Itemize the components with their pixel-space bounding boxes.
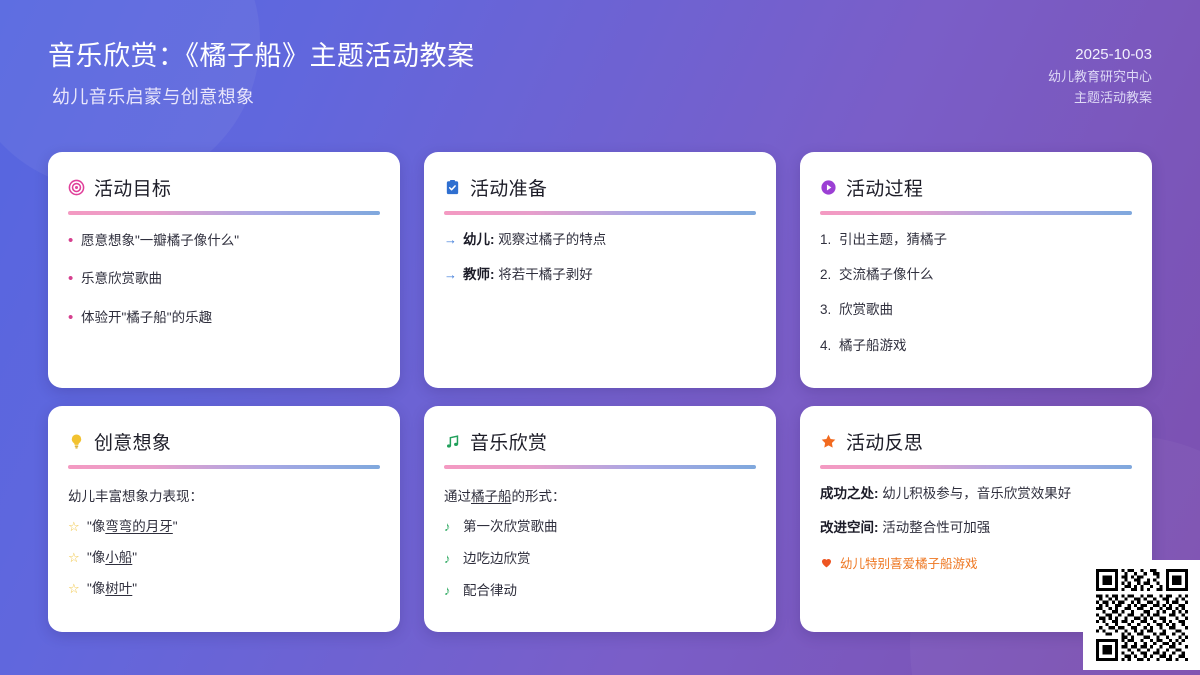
quote-open: "像 [87,550,105,565]
highlight-text: 幼儿特别喜爱橘子船游戏 [840,553,978,572]
list-item-text: 橘子船游戏 [839,337,907,355]
card-header: 活动目标 [68,174,380,201]
list-item: ♪ 第一次欣赏歌曲 [444,518,756,536]
list-item-label: 教师: [463,267,495,282]
list-item-label: 幼儿: [463,232,495,247]
qr-code [1096,569,1188,661]
card-divider [68,465,380,469]
lead-prefix: 通过 [444,489,471,504]
card-body: 通过橘子船的形式： ♪ 第一次欣赏歌曲 ♪ 边吃边欣赏 ♪ 配合律动 [444,485,756,601]
header-date: 2025-10-03 [1075,43,1152,66]
card-music-appreciation: 音乐欣赏 通过橘子船的形式： ♪ 第一次欣赏歌曲 ♪ 边吃边欣赏 ♪ 配合律动 [424,406,776,632]
quote-close: " [132,581,137,596]
list-item: 2. 交流橘子像什么 [820,266,1132,284]
lead-suffix: 的形式： [512,489,566,504]
star-icon [820,433,837,450]
qr-code-container [1083,560,1200,670]
card-title: 活动过程 [846,174,923,201]
list-item: ♪ 配合律动 [444,582,756,600]
music-note-bullet-icon: ♪ [444,582,463,600]
reflection-label: 成功之处: [820,486,879,501]
reflection-label: 改进空间: [820,520,879,535]
card-creative-imagination: 创意想象 幼儿丰富想象力表现： ☆ "像弯弯的月牙" ☆ "像小船" ☆ "像树… [48,406,400,632]
list-item: • 体验开"橘子船"的乐趣 [68,308,380,328]
music-note-icon [444,433,461,450]
card-header: 活动准备 [444,174,756,201]
card-divider [444,465,756,469]
reflection-success: 成功之处: 幼儿积极参与，音乐欣赏效果好 [820,485,1132,503]
card-lead-text: 通过橘子船的形式： [444,485,756,505]
header-meta-block: 2025-10-03 幼儿教育研究中心 主题活动教案 [1048,40,1152,108]
quote-open: "像 [87,519,105,534]
star-bullet-icon: ☆ [68,580,87,598]
page-header: 音乐欣赏：《橘子船》主题活动教案 幼儿音乐启蒙与创意想象 2025-10-03 … [0,0,1200,140]
list-item-text: 配合律动 [463,582,517,600]
card-activity-process: 活动过程 1. 引出主题，猜橘子 2. 交流橘子像什么 3. 欣赏歌曲 4. 橘… [800,152,1152,388]
card-title: 活动准备 [470,174,547,201]
card-lead-text: 幼儿丰富想象力表现： [68,485,380,505]
card-header: 创意想象 [68,428,380,455]
list-item-text: 欣赏歌曲 [839,301,893,319]
list-item: ☆ "像弯弯的月牙" [68,518,380,536]
star-bullet-icon: ☆ [68,518,87,536]
card-grid: 活动目标 • 愿意想象"一瓣橘子像什么" • 乐意欣赏歌曲 • 体验开"橘子船"… [48,152,1152,632]
list-item: → 幼儿: 观察过橘子的特点 [444,231,756,249]
card-divider [820,211,1132,215]
star-bullet-icon: ☆ [68,549,87,567]
card-body: → 幼儿: 观察过橘子的特点 → 教师: 将若干橘子剥好 [444,231,756,284]
card-body: 1. 引出主题，猜橘子 2. 交流橘子像什么 3. 欣赏歌曲 4. 橘子船游戏 [820,231,1132,355]
list-item: • 乐意欣赏歌曲 [68,269,380,289]
play-circle-icon [820,179,837,196]
card-activity-goals: 活动目标 • 愿意想象"一瓣橘子像什么" • 乐意欣赏歌曲 • 体验开"橘子船"… [48,152,400,388]
list-number: 4. [820,337,839,355]
card-title: 活动反思 [846,428,923,455]
header-title-block: 音乐欣赏：《橘子船》主题活动教案 幼儿音乐启蒙与创意想象 [48,40,475,109]
list-item-text: 将若干橘子剥好 [498,267,593,282]
emphasis-text: 弯弯的月牙 [105,519,173,534]
lightbulb-icon [68,433,85,450]
card-divider [820,465,1132,469]
card-header: 音乐欣赏 [444,428,756,455]
bullet-icon: • [68,308,81,328]
header-organization: 幼儿教育研究中心 [1048,66,1152,87]
page-subtitle: 幼儿音乐启蒙与创意想象 [52,83,475,109]
emphasis-text: 树叶 [105,581,132,596]
music-note-bullet-icon: ♪ [444,550,463,568]
bullet-icon: • [68,269,81,289]
card-divider [68,211,380,215]
card-title: 创意想象 [94,428,171,455]
bullet-icon: • [68,231,81,251]
music-note-bullet-icon: ♪ [444,518,463,536]
emphasis-text: 小船 [105,550,132,565]
list-item: ☆ "像树叶" [68,580,380,598]
arrow-icon: → [444,266,463,284]
list-item: ♪ 边吃边欣赏 [444,550,756,568]
card-header: 活动过程 [820,174,1132,201]
card-header: 活动反思 [820,428,1132,455]
list-item-text: 边吃边欣赏 [463,550,531,568]
reflection-text: 活动整合性可加强 [882,520,990,535]
quote-close: " [173,519,178,534]
card-title: 活动目标 [94,174,171,201]
header-doc-type: 主题活动教案 [1074,87,1152,108]
card-title: 音乐欣赏 [470,428,547,455]
quote-close: " [132,550,137,565]
list-item: 1. 引出主题，猜橘子 [820,231,1132,249]
emphasis-text: 橘子船 [471,489,512,504]
list-item-text: 交流橘子像什么 [839,266,934,284]
list-item: → 教师: 将若干橘子剥好 [444,266,756,284]
arrow-icon: → [444,231,463,249]
list-item-text: 观察过橘子的特点 [498,232,606,247]
card-body: 幼儿丰富想象力表现： ☆ "像弯弯的月牙" ☆ "像小船" ☆ "像树叶" [68,485,380,599]
target-icon [68,179,85,196]
list-item-text: 乐意欣赏歌曲 [81,270,162,288]
list-item: 3. 欣赏歌曲 [820,301,1132,319]
list-item-text: 体验开"橘子船"的乐趣 [81,309,212,327]
heart-icon [820,556,833,569]
reflection-improvement: 改进空间: 活动整合性可加强 [820,519,1132,537]
card-activity-preparation: 活动准备 → 幼儿: 观察过橘子的特点 → 教师: 将若干橘子剥好 [424,152,776,388]
list-number: 2. [820,266,839,284]
list-number: 1. [820,231,839,249]
card-divider [444,211,756,215]
list-item: • 愿意想象"一瓣橘子像什么" [68,231,380,251]
list-item-text: 愿意想象"一瓣橘子像什么" [81,232,239,250]
list-item: 4. 橘子船游戏 [820,337,1132,355]
page-title: 音乐欣赏：《橘子船》主题活动教案 [48,40,475,74]
quote-open: "像 [87,581,105,596]
list-item-text: 第一次欣赏歌曲 [463,518,558,536]
reflection-text: 幼儿积极参与，音乐欣赏效果好 [882,486,1071,501]
card-body: • 愿意想象"一瓣橘子像什么" • 乐意欣赏歌曲 • 体验开"橘子船"的乐趣 [68,231,380,328]
list-number: 3. [820,301,839,319]
clipboard-check-icon [444,179,461,196]
list-item-text: 引出主题，猜橘子 [839,231,947,249]
list-item: ☆ "像小船" [68,549,380,567]
